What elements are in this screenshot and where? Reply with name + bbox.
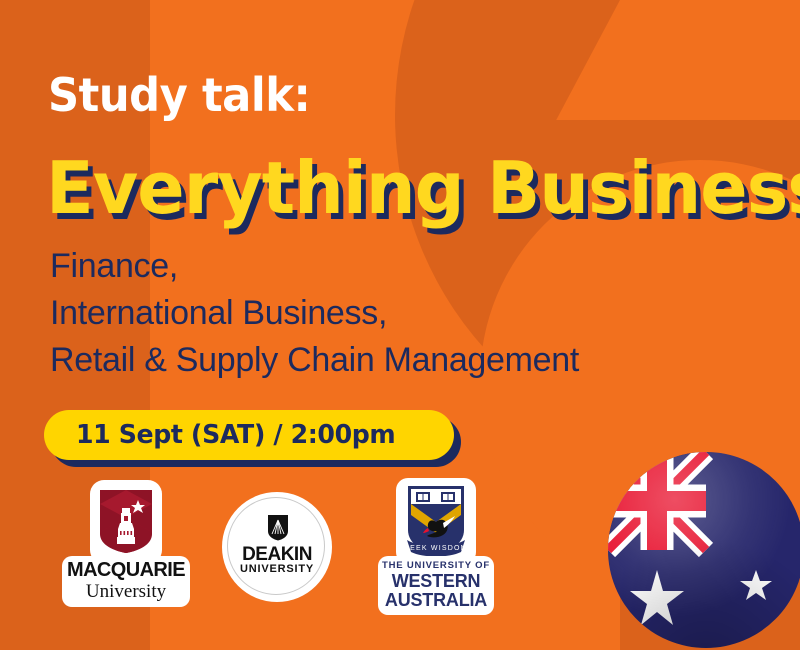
uwa-wordmark: THE UNIVERSITY OF WESTERN AUSTRALIA (378, 556, 494, 615)
page-title: Everything Business (46, 146, 800, 230)
subtitle-line-2: International Business, (50, 290, 579, 337)
eyebrow-text: Study talk: (48, 68, 310, 122)
striped-shield-icon (267, 514, 289, 541)
date-badge: 11 Sept (SAT) / 2:00pm (44, 410, 454, 460)
subtitle-block: Finance, International Business, Retail … (50, 243, 579, 384)
swan-crest-icon: SEEK WISDOM (403, 482, 469, 560)
uwa-name-line2: WESTERN (378, 572, 494, 591)
date-badge-label: 11 Sept (SAT) / 2:00pm (76, 420, 395, 450)
deakin-name-line2: UNIVERSITY (222, 563, 332, 575)
subtitle-line-3: Retail & Supply Chain Management (50, 337, 579, 384)
svg-text:SEEK WISDOM: SEEK WISDOM (404, 545, 467, 552)
australia-flag-icon (608, 452, 800, 648)
macquarie-name-line1: MACQUARIE (62, 559, 190, 581)
logo-macquarie: MACQUARIE University (62, 480, 190, 615)
logo-deakin: DEAKIN UNIVERSITY (222, 492, 332, 602)
poster: Study talk: Everything Business Finance,… (0, 0, 800, 650)
logo-uwa: SEEK WISDOM THE UNIVERSITY OF WESTERN AU… (378, 478, 494, 618)
subtitle-line-1: Finance, (50, 243, 579, 290)
date-badge-body: 11 Sept (SAT) / 2:00pm (44, 410, 454, 460)
macquarie-wordmark: MACQUARIE University (62, 556, 190, 607)
uwa-name-line3: AUSTRALIA (378, 591, 494, 610)
lighthouse-shield-icon (98, 488, 154, 554)
macquarie-name-line2: University (62, 581, 190, 602)
